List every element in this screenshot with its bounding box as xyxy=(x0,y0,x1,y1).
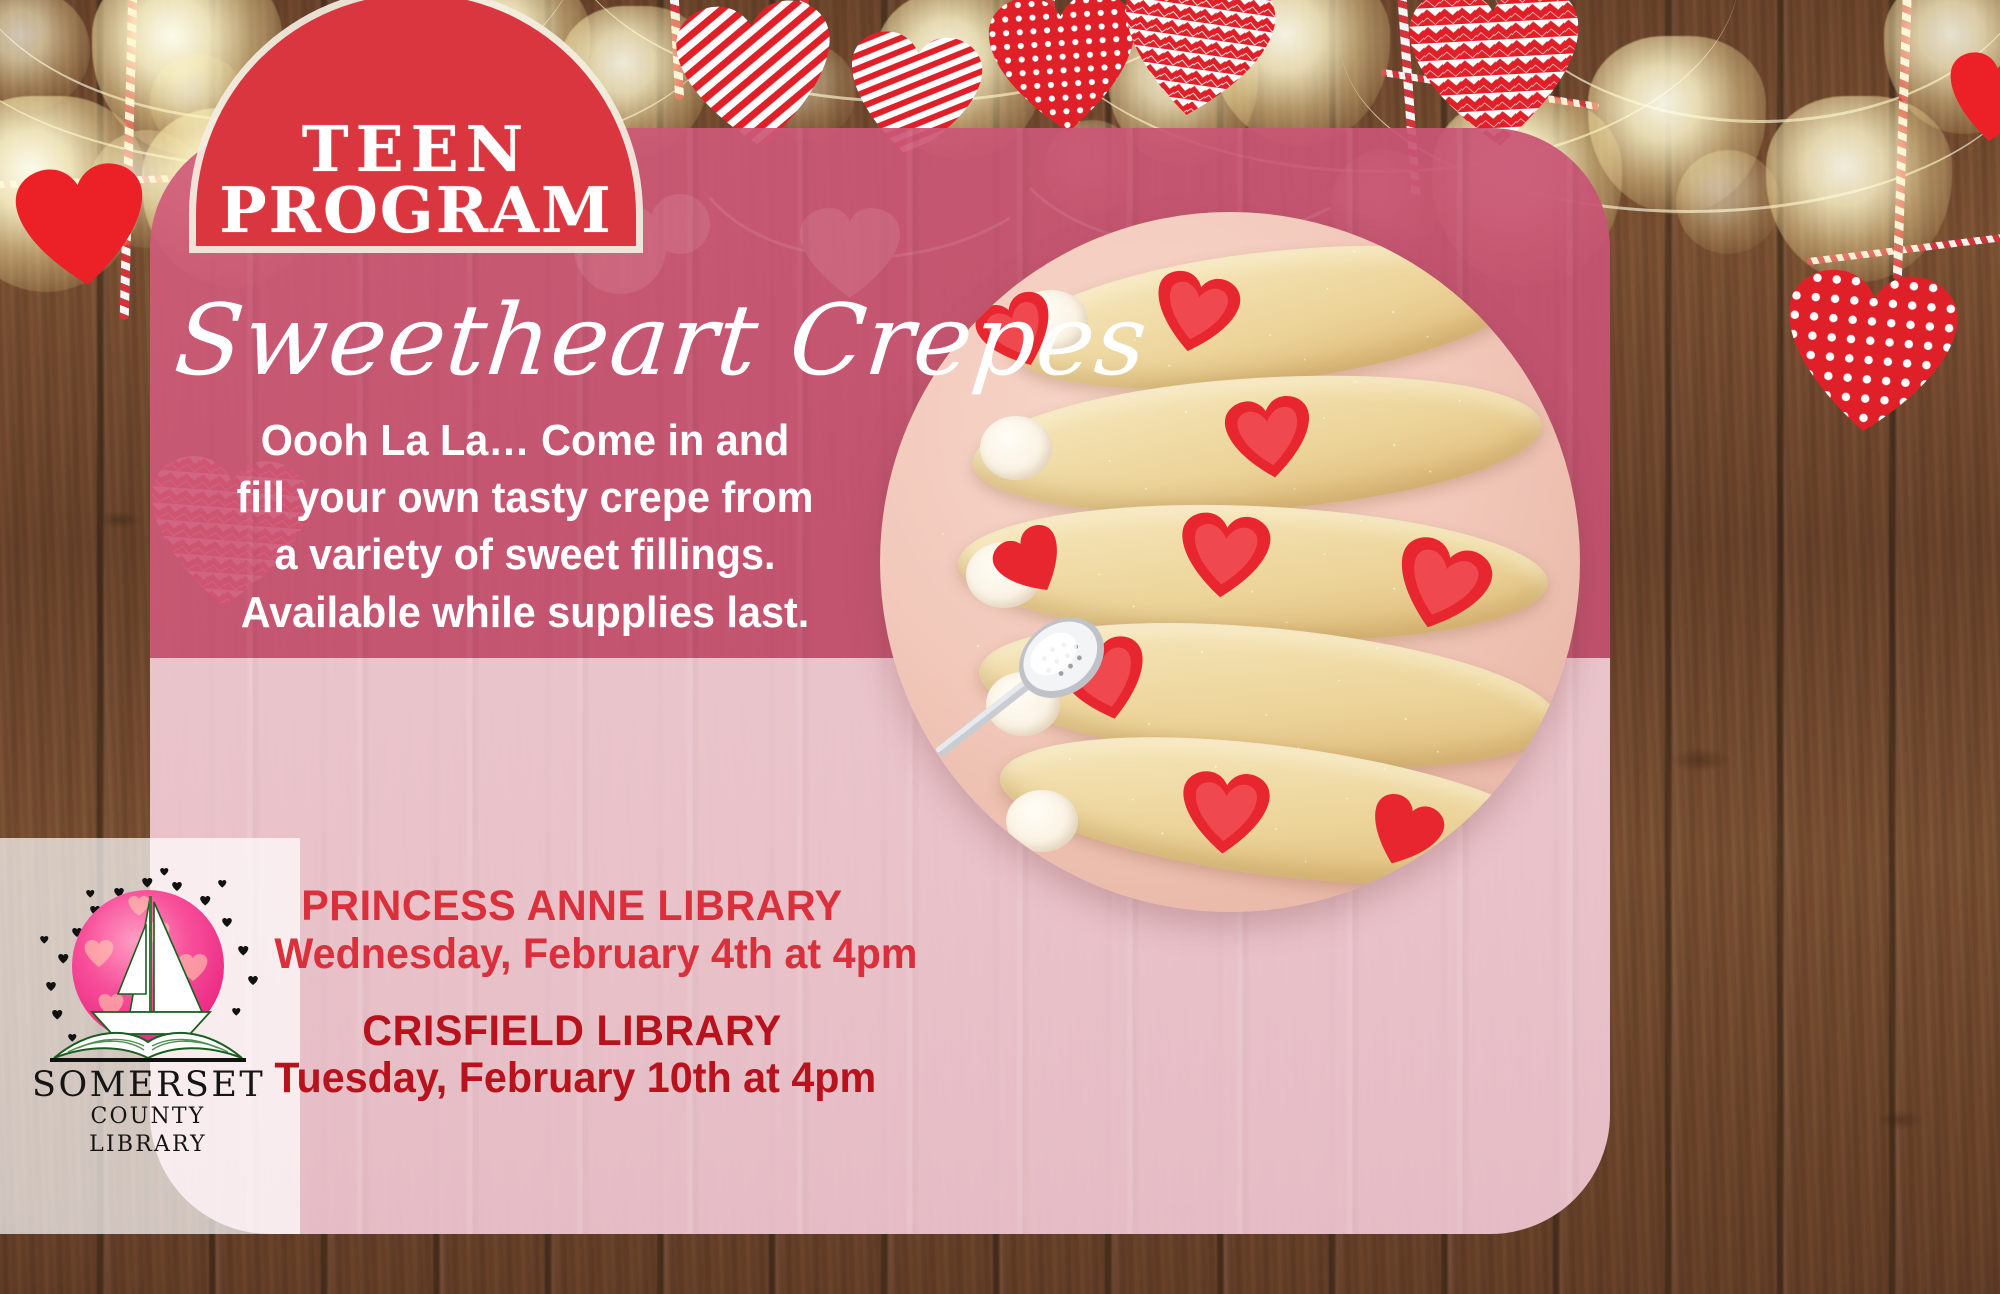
vignette-overlay xyxy=(0,0,2000,1294)
valentine-teen-program-flyer: TEEN PROGRAM Sweetheart Crepes Oooh La L… xyxy=(0,0,2000,1294)
